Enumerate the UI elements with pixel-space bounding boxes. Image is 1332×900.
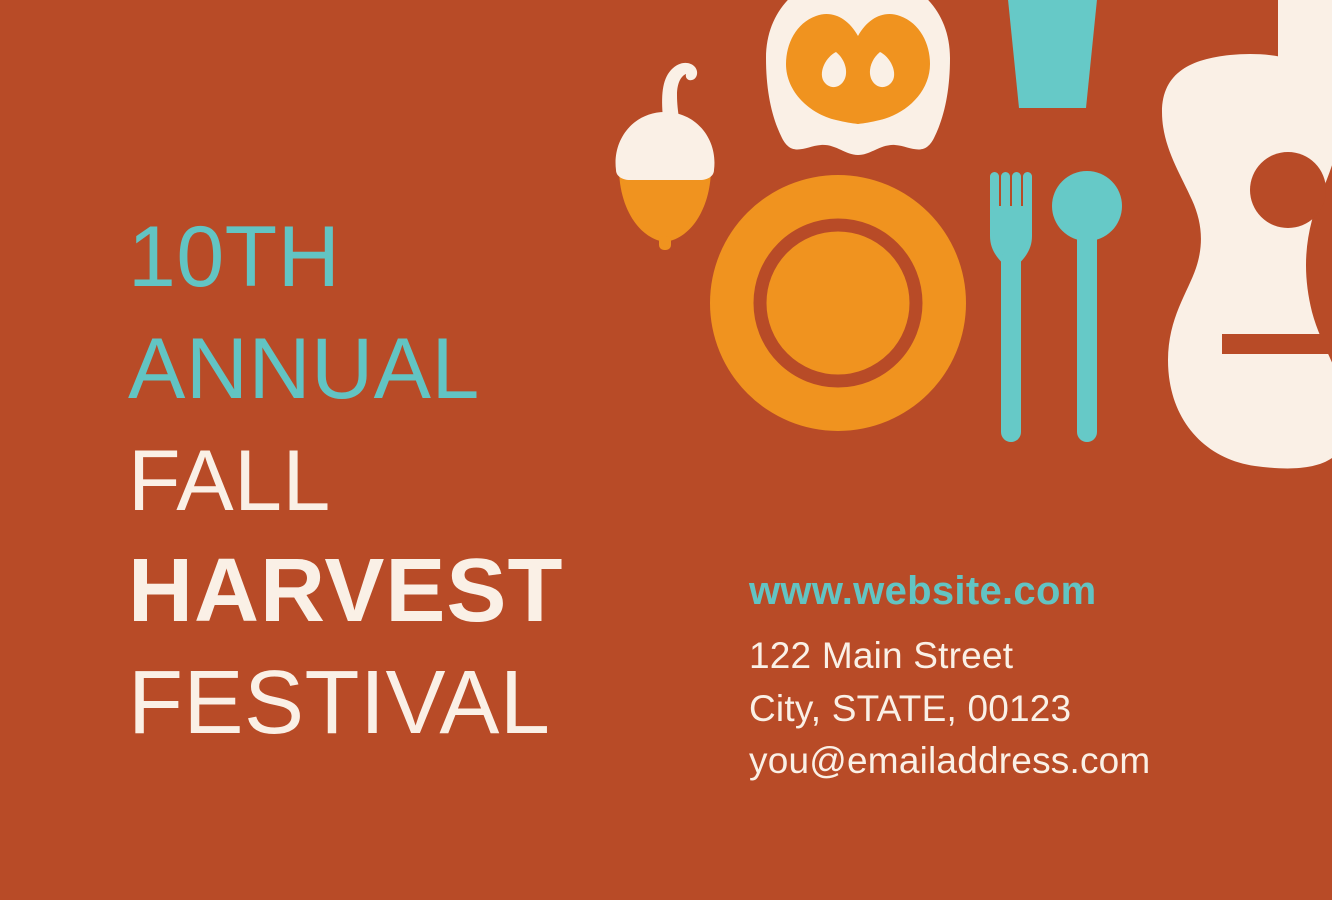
apple-icon (766, 0, 950, 155)
cup-icon (1004, 0, 1101, 108)
guitar-icon (1162, 0, 1332, 468)
headline-line-3: FALL (128, 438, 748, 524)
headline-line-1: 10TH (128, 214, 748, 300)
headline-line-5: FESTIVAL (128, 658, 748, 748)
street-address: 122 Main Street (749, 630, 1269, 683)
spoon-icon (1052, 171, 1122, 442)
plate-icon (710, 175, 966, 431)
email-address[interactable]: you@emailaddress.com (749, 735, 1269, 788)
fork-icon (990, 172, 1032, 442)
festival-poster: 10TH ANNUAL FALL HARVEST FESTIVAL www.we… (0, 0, 1332, 900)
headline-line-4: HARVEST (128, 546, 748, 636)
website-link[interactable]: www.website.com (749, 570, 1269, 612)
headline-line-2: ANNUAL (128, 326, 748, 412)
city-state-zip: City, STATE, 00123 (749, 683, 1269, 736)
contact-block: www.website.com 122 Main Street City, ST… (749, 570, 1269, 788)
headline-block: 10TH ANNUAL FALL HARVEST FESTIVAL (128, 214, 748, 748)
